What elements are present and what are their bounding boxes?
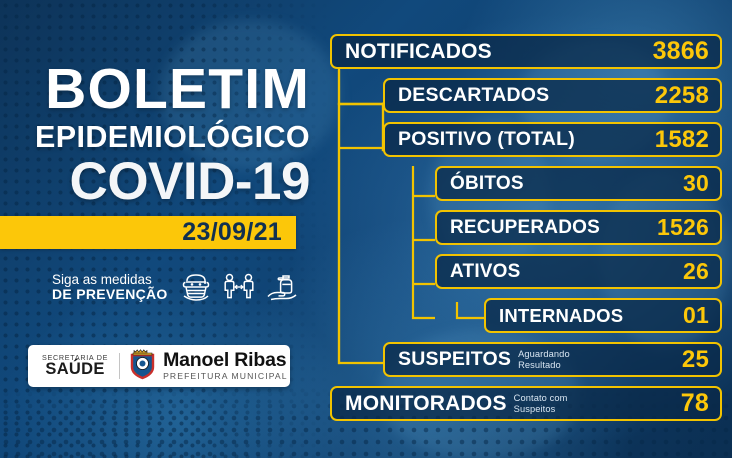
prevention-icon-group — [179, 272, 301, 302]
city-logo-name: Manoel Ribas — [163, 351, 288, 371]
stat-value: 30 — [683, 170, 709, 197]
stat-value: 1582 — [655, 126, 709, 154]
stat-row-monitorados[interactable]: MONITORADOS Contato com Suspeitos 78 — [330, 386, 722, 421]
stat-row-suspeitos[interactable]: SUSPEITOS Aguardando Resultado 25 — [383, 342, 722, 377]
logo-divider — [119, 353, 120, 379]
title-boletim: BOLETIM — [28, 62, 310, 117]
stat-label: ATIVOS — [450, 261, 521, 283]
stat-label: POSITIVO (TOTAL) — [398, 128, 575, 151]
date-bar: 23/09/21 — [0, 216, 296, 249]
health-department-logo: SECRETARIA DE SAÚDE — [28, 354, 119, 379]
stat-row-internados[interactable]: INTERNADOS 01 — [484, 298, 722, 333]
face-mask-icon — [179, 272, 213, 302]
prevention-text: Siga as medidas DE PREVENÇÃO — [52, 272, 168, 303]
stat-sublabel: Contato com Suspeitos — [514, 393, 568, 414]
stat-value: 25 — [682, 346, 709, 374]
bulletin-date: 23/09/21 — [182, 218, 296, 247]
stat-value: 2258 — [655, 82, 709, 110]
stat-label: ÓBITOS — [450, 173, 524, 195]
logo-bar: SECRETARIA DE SAÚDE Manoel Ribas PREFEIT… — [28, 345, 290, 387]
stat-value: 26 — [683, 258, 709, 285]
stat-value: 1526 — [657, 214, 709, 241]
stat-sublabel: Aguardando Resultado — [518, 349, 570, 370]
health-logo-name: SAÚDE — [42, 361, 108, 378]
stat-row-positivo-total[interactable]: POSITIVO (TOTAL) 1582 — [383, 122, 722, 157]
social-distancing-icon — [222, 272, 256, 302]
stat-row-recuperados[interactable]: RECUPERADOS 1526 — [435, 210, 722, 245]
stat-label: DESCARTADOS — [398, 84, 549, 107]
city-logo: Manoel Ribas PREFEITURA MUNICIPAL — [163, 351, 288, 380]
stat-label: NOTIFICADOS — [345, 40, 492, 64]
stat-row-notificados[interactable]: NOTIFICADOS 3866 — [330, 34, 722, 69]
stat-row-ativos[interactable]: ATIVOS 26 — [435, 254, 722, 289]
stat-value: 78 — [681, 389, 709, 418]
prevention-line2: DE PREVENÇÃO — [52, 287, 168, 303]
prevention-line1: Siga as medidas — [52, 272, 168, 287]
city-coat-of-arms-icon — [129, 348, 156, 385]
city-logo-subtitle: PREFEITURA MUNICIPAL — [163, 372, 288, 381]
stat-label: SUSPEITOS — [398, 348, 511, 371]
stat-row-obitos[interactable]: ÓBITOS 30 — [435, 166, 722, 201]
hand-sanitizer-icon — [265, 272, 301, 302]
title-covid19: COVID-19 — [28, 155, 310, 208]
stat-label: RECUPERADOS — [450, 217, 600, 239]
stat-row-descartados[interactable]: DESCARTADOS 2258 — [383, 78, 722, 113]
stat-label: MONITORADOS — [345, 392, 507, 416]
prevention-strip: Siga as medidas DE PREVENÇÃO — [52, 272, 301, 303]
stat-value: 3866 — [653, 37, 709, 66]
covid-bulletin-poster: BOLETIM EPIDEMIOLÓGICO COVID-19 23/09/21… — [0, 0, 732, 458]
stat-value: 01 — [683, 302, 709, 329]
poster-headline: BOLETIM EPIDEMIOLÓGICO COVID-19 — [28, 62, 310, 208]
statistics-tree: NOTIFICADOS 3866 DESCARTADOS 2258 POSITI… — [325, 0, 732, 458]
stat-label: INTERNADOS — [499, 305, 623, 327]
title-epidemiologico: EPIDEMIOLÓGICO — [28, 120, 310, 154]
